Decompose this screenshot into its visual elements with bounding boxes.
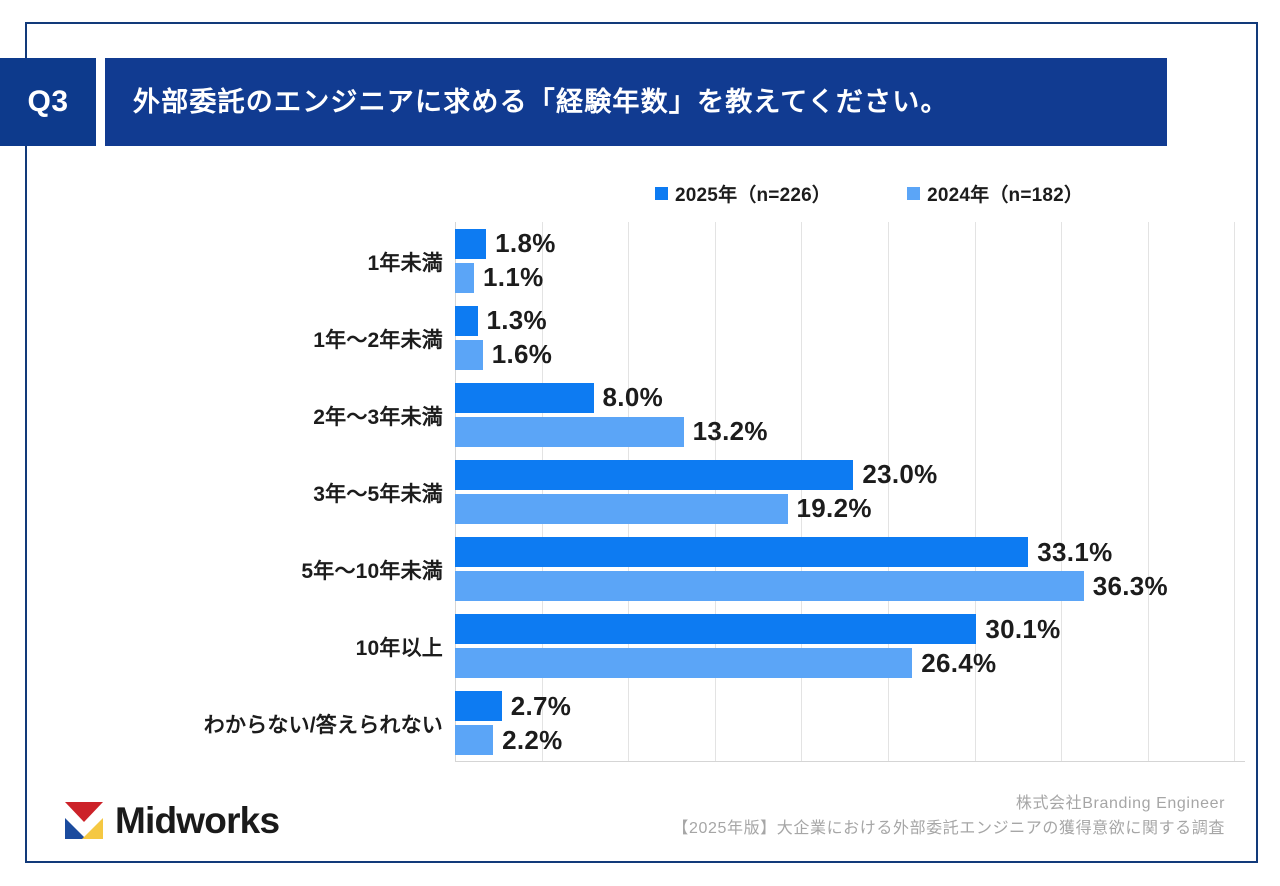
bar [455,494,788,524]
bar [455,383,594,413]
bar-group-2025年[interactable]: 1.8% [455,229,556,259]
midworks-logo[interactable]: Midworks [62,798,279,842]
question-number-badge: Q3 [0,58,96,146]
chart-category-group: 1.8%1.1% [455,222,1245,299]
bar [455,648,912,678]
midworks-logo-text: Midworks [115,802,279,839]
chart-category-group: 33.1%36.3% [455,531,1245,608]
bar-value-label: 8.0% [603,382,663,413]
bar [455,614,976,644]
chart-legend: 2025年（n=226） 2024年（n=182） [655,180,1083,207]
chart-category-group: 8.0%13.2% [455,376,1245,453]
chart-category-group: 23.0%19.2% [455,453,1245,530]
bar-group-2025年[interactable]: 33.1% [455,537,1113,567]
bar [455,460,853,490]
bar [455,306,478,336]
bar [455,417,684,447]
bar-value-label: 2.2% [502,725,562,756]
bar-group-2024年[interactable]: 1.1% [455,263,544,293]
category-label: 10年以上 [13,632,443,662]
legend-swatch-2024 [907,187,920,200]
category-label: 5年〜10年未満 [13,555,443,585]
bar-value-label: 36.3% [1093,571,1168,602]
bar-value-label: 26.4% [921,648,996,679]
bar [455,229,486,259]
category-label: 2年〜3年未満 [13,401,443,431]
bar-value-label: 1.6% [492,339,552,370]
bar [455,571,1084,601]
source-survey: 【2025年版】大企業における外部委託エンジニアの獲得意欲に関する調査 [672,817,1225,842]
bar-group-2024年[interactable]: 26.4% [455,648,996,678]
bar [455,340,483,370]
bar-group-2024年[interactable]: 19.2% [455,494,872,524]
question-number-label: Q3 [27,87,68,117]
bar-group-2024年[interactable]: 13.2% [455,417,768,447]
bar-group-2025年[interactable]: 1.3% [455,306,547,336]
bar-group-2025年[interactable]: 8.0% [455,383,663,413]
bar-value-label: 1.3% [487,305,547,336]
category-label: 1年未満 [13,247,443,277]
page-title: 外部委託のエンジニアに求める「経験年数」を教えてください。 [105,86,949,118]
bar [455,537,1028,567]
legend-label-2024: 2024年（n=182） [927,180,1083,207]
bar-value-label: 30.1% [985,614,1060,645]
bar [455,263,474,293]
category-label: わからない/答えられない [13,709,443,739]
bar-group-2024年[interactable]: 1.6% [455,340,552,370]
bar-group-2025年[interactable]: 2.7% [455,691,571,721]
legend-label-2025: 2025年（n=226） [675,180,831,207]
chart-category-group: 30.1%26.4% [455,608,1245,685]
bar-group-2025年[interactable]: 30.1% [455,614,1061,644]
category-label: 1年〜2年未満 [13,324,443,354]
question-title-bar: 外部委託のエンジニアに求める「経験年数」を教えてください。 [105,58,1167,146]
category-axis-labels: 1年未満1年〜2年未満2年〜3年未満3年〜5年未満5年〜10年未満10年以上わか… [0,222,443,762]
legend-item-2024[interactable]: 2024年（n=182） [907,180,1083,207]
bar-value-label: 1.1% [483,262,543,293]
bar-value-label: 1.8% [495,228,555,259]
source-company: 株式会社Branding Engineer [672,792,1225,817]
bar-value-label: 2.7% [511,691,571,722]
bar-group-2025年[interactable]: 23.0% [455,460,938,490]
bar-value-label: 33.1% [1037,537,1112,568]
bar [455,691,502,721]
bar-value-label: 19.2% [797,493,872,524]
chart-category-group: 2.7%2.2% [455,685,1245,762]
bar-value-label: 23.0% [862,459,937,490]
chart-plot-area: 1.8%1.1%1.3%1.6%8.0%13.2%23.0%19.2%33.1%… [455,222,1245,762]
source-attribution: 株式会社Branding Engineer 【2025年版】大企業における外部委… [672,792,1225,842]
legend-swatch-2025 [655,187,668,200]
bar-group-2024年[interactable]: 36.3% [455,571,1168,601]
bar [455,725,493,755]
bar-value-label: 13.2% [693,416,768,447]
midworks-logo-icon [62,798,106,842]
slide-canvas: Q3 外部委託のエンジニアに求める「経験年数」を教えてください。 2025年（n… [0,0,1280,886]
chart-category-group: 1.3%1.6% [455,299,1245,376]
category-label: 3年〜5年未満 [13,478,443,508]
legend-item-2025[interactable]: 2025年（n=226） [655,180,831,207]
bar-group-2024年[interactable]: 2.2% [455,725,563,755]
